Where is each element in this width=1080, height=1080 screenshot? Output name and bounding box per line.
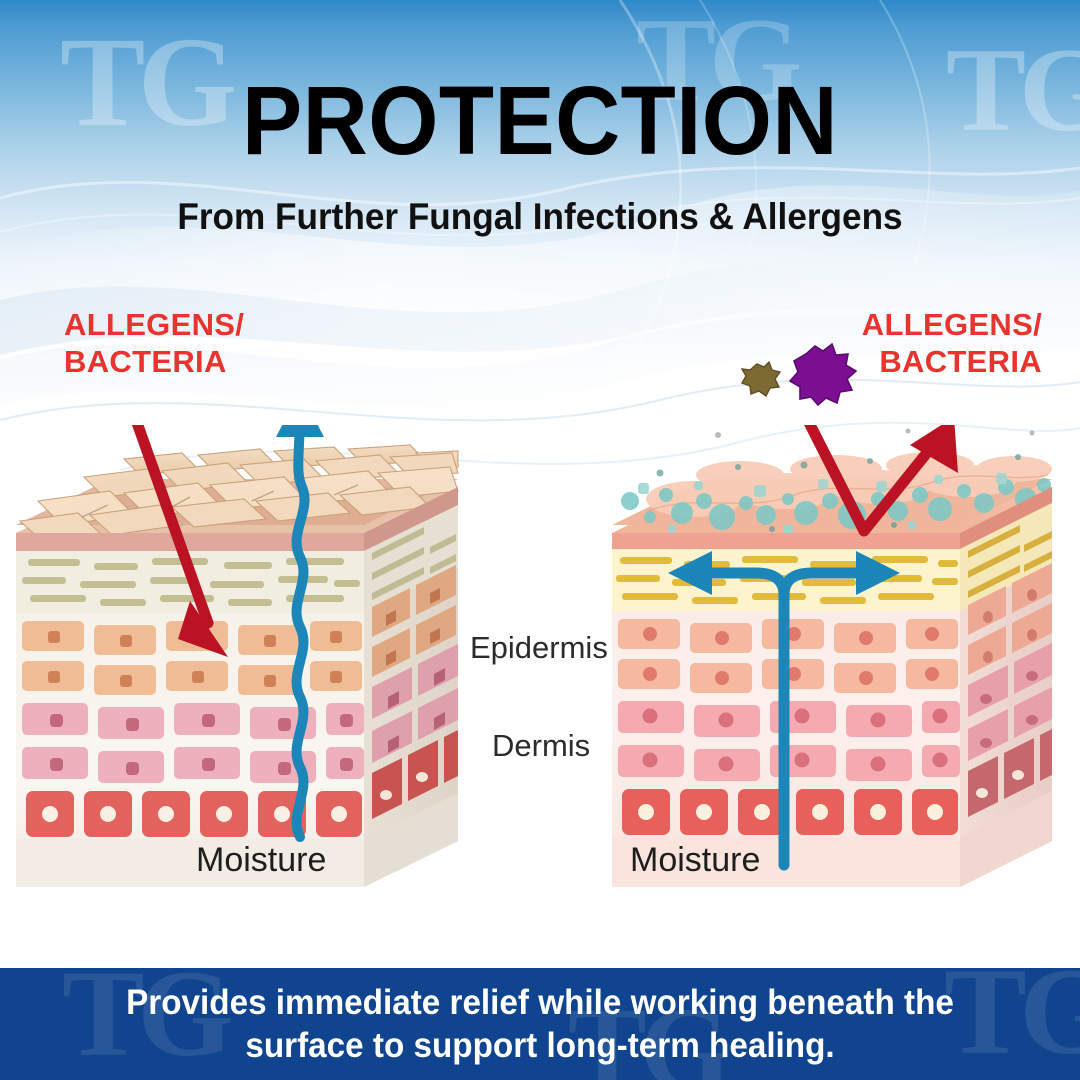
allergens-label-left: ALLEGENS/ BACTERIA — [64, 307, 244, 380]
footer-text: Provides immediate relief while working … — [27, 982, 1053, 1067]
page-title: PROTECTION — [38, 72, 1042, 169]
large-germ-icon — [790, 344, 856, 405]
page-subtitle: From Further Fungal Infections & Allerge… — [27, 198, 1053, 235]
allergens-label-left-line1: ALLEGENS/ — [64, 307, 244, 342]
skin-cross-section-protected — [608, 425, 1056, 895]
moisture-label-right: Moisture — [630, 843, 760, 877]
footer-text-line1: Provides immediate relief while working … — [27, 982, 1053, 1025]
moisture-label-left: Moisture — [196, 843, 326, 877]
header: PROTECTION From Further Fungal Infection… — [0, 0, 1080, 270]
label-dermis: Dermis — [492, 730, 590, 761]
allergens-label-right-line2: BACTERIA — [862, 344, 1042, 381]
label-epidermis: Epidermis — [470, 632, 608, 663]
allergens-label-right: ALLEGENS/ BACTERIA — [862, 307, 1042, 380]
small-germ-icon — [742, 362, 780, 396]
footer-text-line2: surface to support long-term healing. — [27, 1025, 1053, 1068]
footer-banner: TG TG TG Provides immediate relief while… — [0, 968, 1080, 1080]
allergens-label-right-line1: ALLEGENS/ — [862, 307, 1042, 342]
germ-icons-group — [722, 342, 872, 432]
skin-cross-section-unprotected — [12, 425, 462, 895]
allergens-label-left-line2: BACTERIA — [64, 344, 244, 381]
